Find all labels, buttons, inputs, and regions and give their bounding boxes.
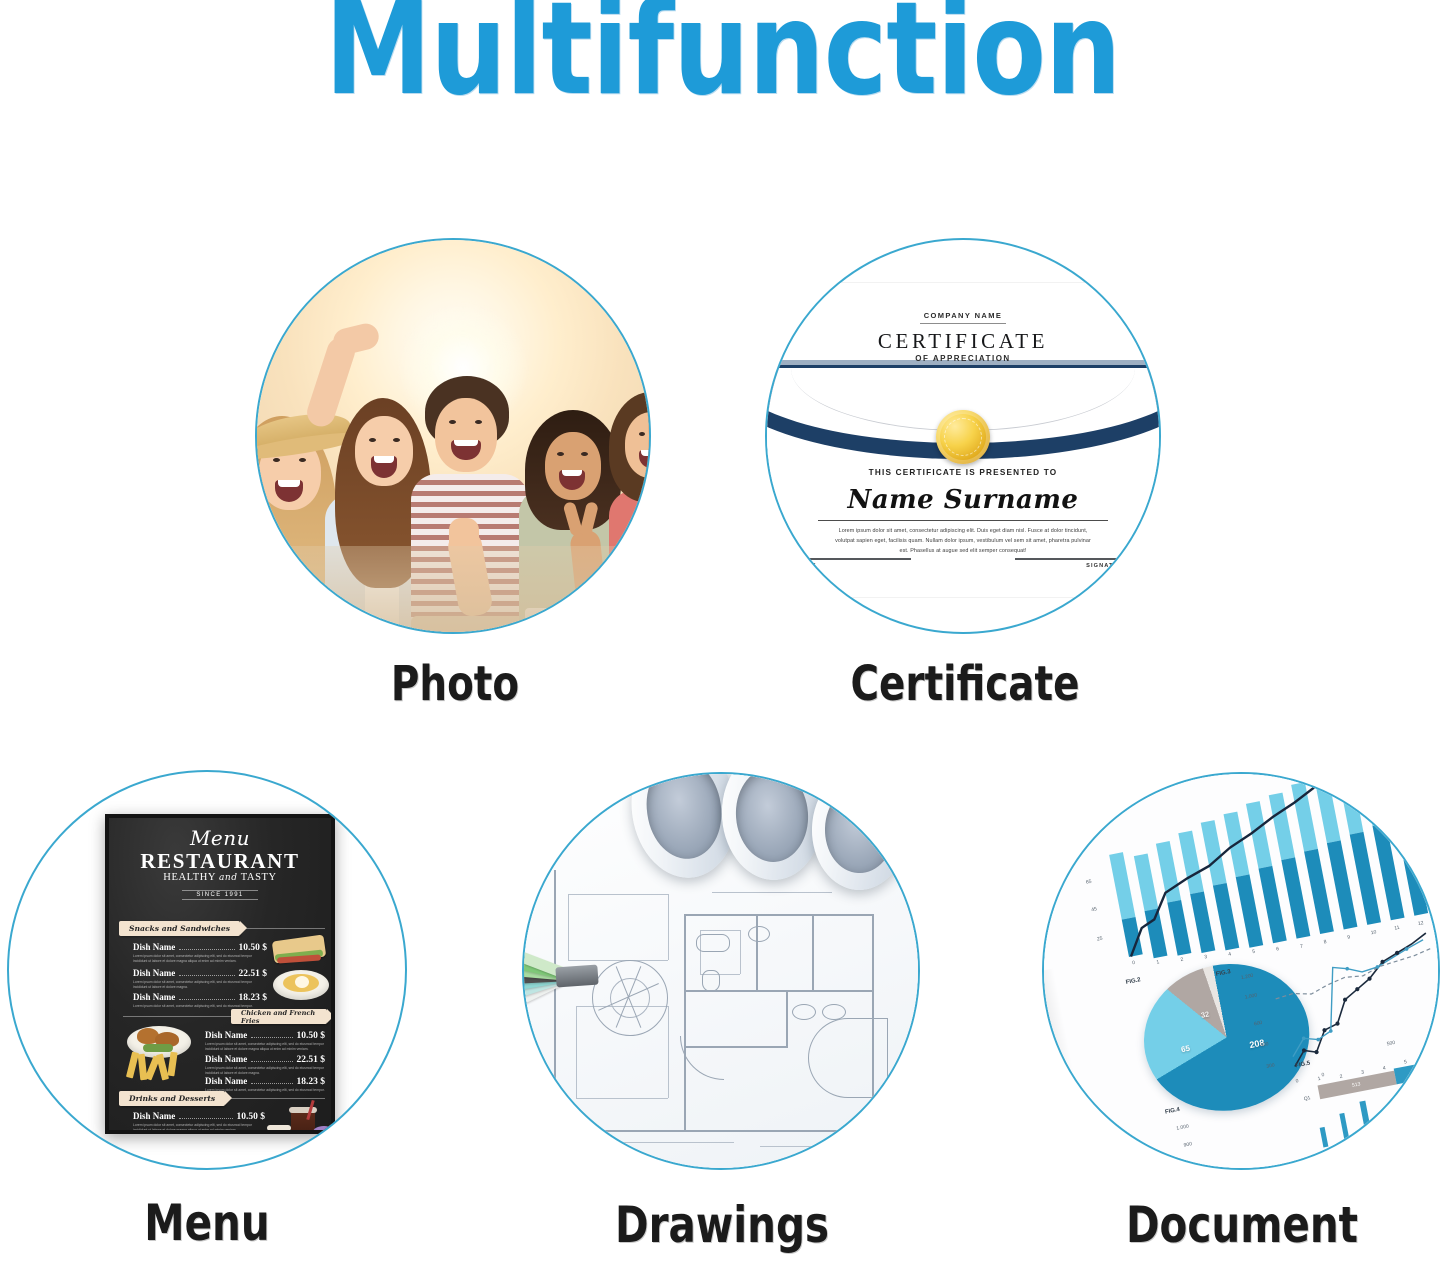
photo-ground [257,546,649,632]
menu-item: Dish Name 10.50 $ Lorem ipsum dolor sit … [205,1030,325,1053]
blueprint-image [524,774,918,1168]
tile-drawings[interactable]: Drawings [522,772,922,1272]
pie-label-65: 65 [1180,1044,1190,1055]
photo-image [257,240,649,632]
menu-header: Menu RESTAURANT HEALTHY and TASTY SINCE … [109,826,331,901]
tile-menu[interactable]: Menu RESTAURANT HEALTHY and TASTY SINCE … [7,770,407,1270]
certificate-heading: CERTIFICATE [767,329,1159,354]
menu-poster: Menu RESTAURANT HEALTHY and TASTY SINCE … [105,814,335,1134]
certificate-body-text: Lorem ipsum dolor sit amet, consectetur … [834,526,1093,556]
dish-desc: Lorem ipsum dolor sit amet, consectetur … [133,954,267,965]
dish-price: 22.51 $ [237,1131,266,1134]
fig5-label: FIG.5 [1295,1061,1311,1070]
dish-name: Dish Name [133,968,175,978]
food-sandwich-icon [267,936,333,1006]
pie-label-32: 32 [1200,1009,1210,1019]
certificate-name-rule [818,520,1108,521]
certificate-signature-row: DATE SIGNATURE [791,555,1136,569]
dish-price: 10.50 $ [237,1112,266,1122]
certificate-date-block: DATE [797,558,911,568]
menu-section-heading-1: Snacks and Sandwiches [119,921,240,936]
dish-name: Dish Name [205,1054,247,1064]
menu-circle: Menu RESTAURANT HEALTHY and TASTY SINCE … [7,770,407,1170]
menu-section-heading-2: Chicken and French Fries [231,1009,327,1024]
menu-script-title: Menu [109,826,331,850]
dish-price: 10.50 $ [297,1031,326,1041]
dish-name: Dish Name [133,1130,175,1134]
dish-price: 18.23 $ [297,1077,326,1087]
dish-name: Dish Name [205,1076,247,1086]
certificate-company-name: COMPANY NAME [767,311,1159,324]
tile-document[interactable]: FIG.2 65 45 25 [1042,772,1442,1272]
tile-label-certificate: Certificate [785,656,1145,712]
dish-price: 22.51 $ [297,1055,326,1065]
menu-item: Dish Name 22.51 $ Lorem ipsum dolor sit … [133,1130,265,1134]
date-label: DATE [797,560,911,569]
tile-photo[interactable]: Photo [255,238,655,718]
menu-item: Dish Name 18.23 $ Lorem ipsum dolor sit … [133,992,267,1009]
menu-tagline-and: and [219,873,238,883]
dish-desc: Lorem ipsum dolor sit amet, consectetur … [205,1066,325,1077]
menu-item: Dish Name 22.51 $ Lorem ipsum dolor sit … [133,968,267,991]
dish-name: Dish Name [133,942,175,952]
dish-name: Dish Name [133,992,175,1002]
tile-label-menu: Menu [27,1194,387,1252]
drawings-circle [522,772,920,1170]
certificate-circle: COMPANY NAME CERTIFICATE OF APPRECIATION… [765,238,1161,634]
menu-item: Dish Name 10.50 $ Lorem ipsum dolor sit … [133,1111,265,1134]
dish-price: 10.50 $ [239,943,268,953]
dish-name: Dish Name [205,1030,247,1040]
dish-desc: Lorem ipsum dolor sit amet, consectetur … [133,980,267,991]
menu-since: SINCE 1991 [182,890,257,900]
dish-desc: Lorem ipsum dolor sit amet, consectetur … [133,1123,265,1134]
dish-desc: Lorem ipsum dolor sit amet, consectetur … [205,1042,325,1053]
menu-section-heading-3: Drinks and Desserts [119,1091,225,1106]
document-circle: FIG.2 65 45 25 [1042,772,1440,1170]
gold-seal-icon [936,410,990,464]
tile-label-drawings: Drawings [542,1196,902,1254]
menu-tagline: HEALTHY and TASTY [109,872,331,883]
dish-price: 22.51 $ [239,969,268,979]
menu-item: Dish Name 22.51 $ Lorem ipsum dolor sit … [205,1054,325,1077]
certificate-presented-label: THIS CERTIFICATE IS PRESENTED TO [767,468,1159,477]
dish-name: Dish Name [133,1111,175,1121]
menu-tagline-a: HEALTHY [163,872,215,883]
document-image: FIG.2 65 45 25 [1044,774,1438,1168]
tile-label-document: Document [1062,1196,1422,1254]
certificate-document: COMPANY NAME CERTIFICATE OF APPRECIATION… [767,283,1159,597]
menu-restaurant: RESTAURANT [109,850,331,872]
food-drinks-icon [265,1106,335,1134]
infographic-canvas: Multifunction [0,0,1445,1274]
menu-item: Dish Name 10.50 $ Lorem ipsum dolor sit … [133,942,267,965]
certificate-signature-block: SIGNATURE [1015,558,1129,568]
tile-certificate[interactable]: COMPANY NAME CERTIFICATE OF APPRECIATION… [765,238,1165,718]
page-title: Multifunction [51,0,1395,114]
signature-label: SIGNATURE [1015,560,1129,569]
tile-label-photo: Photo [275,656,635,712]
fig4-label: FIG.4 [1165,1107,1181,1116]
certificate-recipient-name: Name Surname [767,485,1159,515]
dish-price: 18.23 $ [239,993,268,1003]
menu-tagline-b: TASTY [241,872,277,883]
photo-circle [255,238,651,634]
food-chicken-fries-icon [123,1024,203,1092]
certificate-subheading: OF APPRECIATION [767,354,1159,363]
